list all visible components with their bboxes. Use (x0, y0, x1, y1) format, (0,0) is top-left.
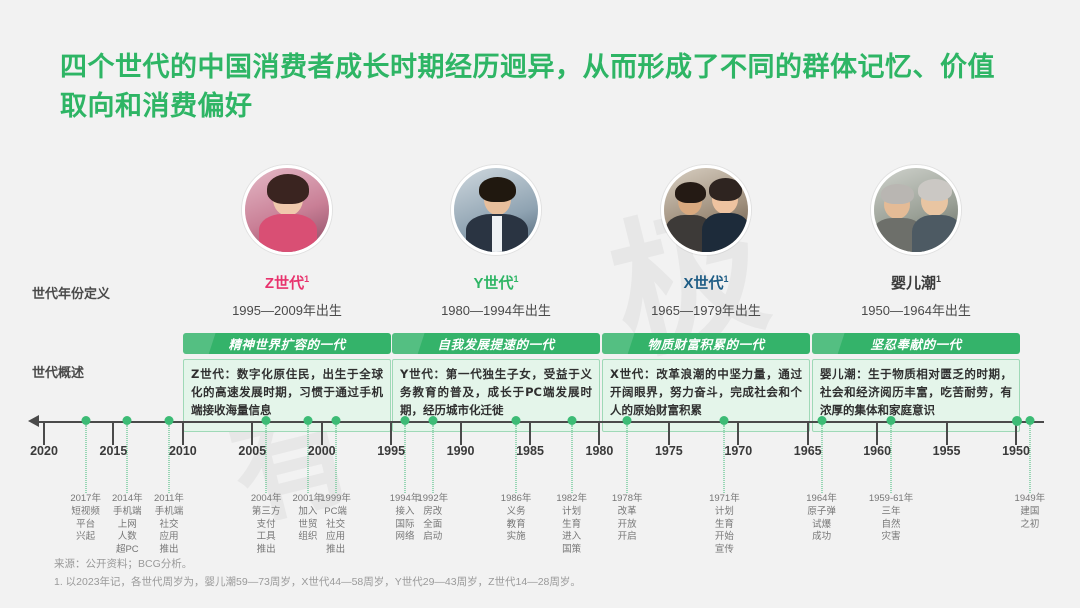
timeline-year-label: 1955 (933, 444, 961, 458)
timeline-event-line: 自然 (863, 519, 919, 532)
timeline-event-connector (627, 425, 628, 493)
timeline-event-connector (307, 425, 308, 493)
timeline-event-dot[interactable] (1025, 416, 1034, 425)
generation-column-x: X世代1 1965—1979年出生 物质财富积累的一代 X世代：改革浪潮的中坚力… (602, 165, 810, 432)
footer: 来源：公开资料；BCG分析。 1. 以2023年记，各世代周岁为，婴儿潮59—7… (54, 556, 581, 592)
generation-banner: 物质财富积累的一代 (602, 333, 810, 354)
timeline-year-tick (668, 423, 670, 445)
timeline-year-label: 1985 (516, 444, 544, 458)
footer-source: 来源：公开资料；BCG分析。 (54, 556, 581, 574)
timeline-event-year: 1971年 (696, 493, 752, 506)
timeline-year-tick (737, 423, 739, 445)
timeline-year-label: 2000 (308, 444, 336, 458)
timeline-event-label: 1978年改革开放开启 (599, 493, 655, 544)
timeline-event-connector (571, 425, 572, 493)
timeline-event-line: 成功 (794, 531, 850, 544)
timeline-event-dot[interactable] (887, 416, 896, 425)
timeline-event-connector (168, 425, 169, 493)
timeline-event-line: 灾害 (863, 531, 919, 544)
timeline-event-line: 三年 (863, 506, 919, 519)
generation-birth-range: 1965—1979年出生 (602, 300, 810, 319)
timeline-event-line: 进入 (544, 531, 600, 544)
timeline-event-dot[interactable] (567, 416, 576, 425)
timeline-event-label: 1959-61年三年自然灾害 (863, 493, 919, 544)
row-label-year-definition: 世代年份定义 (32, 283, 110, 302)
timeline-event-line: 房改 (405, 506, 461, 519)
timeline-year-tick (321, 423, 323, 445)
timeline-event-year: 1999年 (308, 493, 364, 506)
timeline-event-dot[interactable] (262, 416, 271, 425)
timeline-event-line: 开放 (599, 519, 655, 532)
avatar (242, 165, 332, 255)
timeline-event-label: 1964年原子弹试爆成功 (794, 493, 850, 544)
timeline-event-dot[interactable] (401, 416, 410, 425)
timeline-event-line: 应用 (308, 531, 364, 544)
footer-note: 1. 以2023年记，各世代周岁为，婴儿潮59—73周岁，X世代44—58周岁，… (54, 574, 581, 592)
timeline-event-connector (821, 425, 822, 493)
timeline-event-year: 1986年 (488, 493, 544, 506)
timeline-event-line: 教育 (488, 519, 544, 532)
timeline-year-label: 2020 (30, 444, 58, 458)
timeline-event-connector (405, 425, 406, 493)
timeline-year-label: 1960 (863, 444, 891, 458)
timeline-year-tick (876, 423, 878, 445)
timeline-year-tick (460, 423, 462, 445)
timeline-event-dot[interactable] (303, 416, 312, 425)
timeline-event-line: 试爆 (794, 519, 850, 532)
timeline-year-tick (390, 423, 392, 445)
generation-banner: 坚忍奉献的一代 (812, 333, 1020, 354)
timeline-event-label: 1949年建国之初 (1002, 493, 1058, 531)
avatar (661, 165, 751, 255)
timeline-event-line: 改革 (599, 506, 655, 519)
timeline-event-connector (432, 425, 433, 493)
row-label-summary: 世代概述 (32, 362, 84, 381)
timeline-year-tick (43, 423, 45, 445)
timeline-event-dot[interactable] (512, 416, 521, 425)
timeline-year-tick (598, 423, 600, 445)
timeline-year-tick (112, 423, 114, 445)
timeline-year-label: 1970 (724, 444, 752, 458)
timeline-year-label: 1975 (655, 444, 683, 458)
timeline-year-label: 2010 (169, 444, 197, 458)
timeline-event-label: 1982年计划生育进入国策 (544, 493, 600, 557)
generation-column-boomer: 婴儿潮1 1950—1964年出生 坚忍奉献的一代 婴儿潮：生于物质相对匮乏的时… (812, 165, 1020, 432)
timeline-year-label: 1990 (447, 444, 475, 458)
timeline-event-connector (335, 425, 336, 493)
generation-banner: 精神世界扩容的一代 (183, 333, 391, 354)
timeline-year-label: 1980 (586, 444, 614, 458)
timeline-event-dot[interactable] (164, 416, 173, 425)
timeline-event-connector (516, 425, 517, 493)
avatar (451, 165, 541, 255)
timeline-event-line: 开启 (599, 531, 655, 544)
timeline-event-dot[interactable] (817, 416, 826, 425)
timeline-event-label: 1999年PC端社交应用推出 (308, 493, 364, 557)
timeline-event-dot[interactable] (623, 416, 632, 425)
timeline-event-label: 1971年计划生育开始宣传 (696, 493, 752, 557)
timeline-event-line: 生育 (696, 519, 752, 532)
generation-column-z: Z世代1 1995—2009年出生 精神世界扩容的一代 Z世代：数字化原住民，出… (183, 165, 391, 432)
generation-name: Y世代1 (392, 272, 600, 293)
timeline-year-label: 1995 (377, 444, 405, 458)
timeline-event-line: 应用 (141, 531, 197, 544)
timeline-event-line: 计划 (696, 506, 752, 519)
timeline-event-line: 宣传 (696, 544, 752, 557)
timeline-event-year: 1964年 (794, 493, 850, 506)
timeline-event-year: 1959-61年 (863, 493, 919, 506)
timeline-year-tick (251, 423, 253, 445)
timeline-year-tick (946, 423, 948, 445)
timeline-event-year: 1978年 (599, 493, 655, 506)
timeline-event-line: 原子弹 (794, 506, 850, 519)
timeline-event-line: 手机端 (141, 506, 197, 519)
timeline-event-dot[interactable] (81, 416, 90, 425)
timeline-event-line: 义务 (488, 506, 544, 519)
timeline-event-connector (891, 425, 892, 493)
timeline-event-year: 1949年 (1002, 493, 1058, 506)
timeline-end-dot (1012, 416, 1022, 426)
timeline-event-line: 全面 (405, 519, 461, 532)
timeline-event-line: 开始 (696, 531, 752, 544)
timeline-year-tick (182, 423, 184, 445)
generation-birth-range: 1980—1994年出生 (392, 300, 600, 319)
timeline-event-line: 建国 (1002, 506, 1058, 519)
timeline-event-line: 社交 (141, 519, 197, 532)
timeline-event-dot[interactable] (123, 416, 132, 425)
timeline-event-year: 2011年 (141, 493, 197, 506)
timeline-event-label: 1986年义务教育实施 (488, 493, 544, 544)
timeline-event-label: 2011年手机端社交应用推出 (141, 493, 197, 557)
page-title: 四个世代的中国消费者成长时期经历迥异，从而形成了不同的群体记忆、价值取向和消费偏… (60, 48, 1020, 126)
timeline-year-label: 2005 (238, 444, 266, 458)
timeline-event-line: 社交 (308, 519, 364, 532)
avatar (871, 165, 961, 255)
generation-name: 婴儿潮1 (812, 272, 1020, 293)
timeline-year-label: 1950 (1002, 444, 1030, 458)
timeline-event-year: 1992年 (405, 493, 461, 506)
timeline-event-line: 计划 (544, 506, 600, 519)
timeline-event-connector (266, 425, 267, 493)
timeline-year-tick (1015, 423, 1017, 445)
timeline-event-line: 生育 (544, 519, 600, 532)
timeline-year-tick (529, 423, 531, 445)
timeline-year-tick (807, 423, 809, 445)
timeline-event-connector (724, 425, 725, 493)
timeline-event-connector (1029, 425, 1030, 493)
timeline-event-dot[interactable] (331, 416, 340, 425)
timeline-event-line: 实施 (488, 531, 544, 544)
timeline-event-connector (85, 425, 86, 493)
timeline-year-label: 1965 (794, 444, 822, 458)
generation-birth-range: 1995—2009年出生 (183, 300, 391, 319)
timeline-event-label: 1992年房改全面启动 (405, 493, 461, 544)
generation-banner: 自我发展提速的一代 (392, 333, 600, 354)
generation-birth-range: 1950—1964年出生 (812, 300, 1020, 319)
timeline-event-dot[interactable] (428, 416, 437, 425)
generation-column-y: Y世代1 1980—1994年出生 自我发展提速的一代 Y世代：第一代独生子女，… (392, 165, 600, 432)
timeline-event-line: PC端 (308, 506, 364, 519)
generation-name: X世代1 (602, 272, 810, 293)
timeline-event-year: 1982年 (544, 493, 600, 506)
generation-name: Z世代1 (183, 272, 391, 293)
timeline-year-label: 2015 (100, 444, 128, 458)
timeline-event-dot[interactable] (720, 416, 729, 425)
slide-root: 极 有 四个世代的中国消费者成长时期经历迥异，从而形成了不同的群体记忆、价值取向… (0, 0, 1080, 608)
timeline-event-connector (127, 425, 128, 493)
timeline-event-line: 启动 (405, 531, 461, 544)
timeline-event-line: 之初 (1002, 519, 1058, 532)
